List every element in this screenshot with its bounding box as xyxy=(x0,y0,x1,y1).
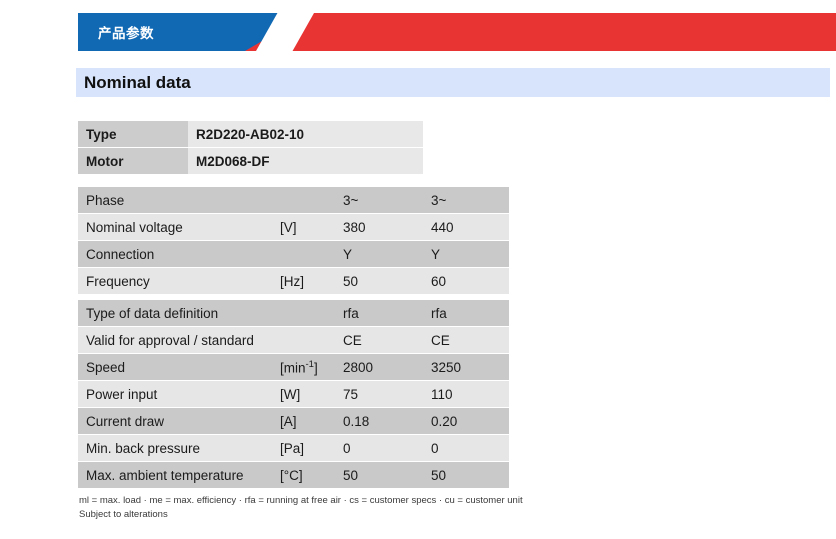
identity-value-motor: M2D068-DF xyxy=(188,148,423,174)
row-value-1: 0.18 xyxy=(335,408,423,434)
row-value-1: CE xyxy=(335,327,423,353)
row-label: Current draw xyxy=(78,408,272,434)
row-label: Valid for approval / standard xyxy=(78,327,272,353)
identity-table: Type R2D220-AB02-10 Motor M2D068-DF xyxy=(78,120,423,175)
footnote-abbreviations: ml = max. load · me = max. efficiency · … xyxy=(79,494,523,508)
row-value-2: 110 xyxy=(423,381,509,407)
section-heading-bar: Nominal data xyxy=(76,68,830,97)
table-row: Motor M2D068-DF xyxy=(78,148,423,174)
row-value-1: Y xyxy=(335,241,423,267)
row-value-1: rfa xyxy=(335,300,423,326)
table-row: Speed [min-1] 2800 3250 xyxy=(78,354,509,380)
row-value-1: 0 xyxy=(335,435,423,461)
row-unit-speed: [min-1] xyxy=(272,354,335,380)
table-row: Type of data definition rfa rfa xyxy=(78,300,509,326)
row-value-2: 0.20 xyxy=(423,408,509,434)
nominal-data-table-group-1: Phase 3~ 3~ Nominal voltage [V] 380 440 … xyxy=(78,186,509,295)
row-value-2: Y xyxy=(423,241,509,267)
row-value-1: 50 xyxy=(335,462,423,488)
row-value-2: rfa xyxy=(423,300,509,326)
row-unit: [°C] xyxy=(272,462,335,488)
row-value-1: 50 xyxy=(335,268,423,294)
row-label: Nominal voltage xyxy=(78,214,272,240)
row-value-1: 2800 xyxy=(335,354,423,380)
banner-title: 产品参数 xyxy=(98,13,154,51)
row-value-2: 440 xyxy=(423,214,509,240)
row-unit: [A] xyxy=(272,408,335,434)
row-unit: [V] xyxy=(272,214,335,240)
row-value-2: 0 xyxy=(423,435,509,461)
row-unit xyxy=(272,241,335,267)
row-value-2: 50 xyxy=(423,462,509,488)
row-label: Connection xyxy=(78,241,272,267)
row-label: Phase xyxy=(78,187,272,213)
table-row: Min. back pressure [Pa] 0 0 xyxy=(78,435,509,461)
row-value-2: 3250 xyxy=(423,354,509,380)
row-value-2: 60 xyxy=(423,268,509,294)
row-value-1: 3~ xyxy=(335,187,423,213)
page-title: Nominal data xyxy=(84,73,191,93)
table-row: Power input [W] 75 110 xyxy=(78,381,509,407)
identity-value-type: R2D220-AB02-10 xyxy=(188,121,423,147)
row-value-2: 3~ xyxy=(423,187,509,213)
table-row: Max. ambient temperature [°C] 50 50 xyxy=(78,462,509,488)
row-label: Type of data definition xyxy=(78,300,272,326)
table-row: Current draw [A] 0.18 0.20 xyxy=(78,408,509,434)
table-row: Nominal voltage [V] 380 440 xyxy=(78,214,509,240)
row-label: Speed xyxy=(78,354,272,380)
row-unit: [W] xyxy=(272,381,335,407)
row-value-1: 380 xyxy=(335,214,423,240)
table-row: Type R2D220-AB02-10 xyxy=(78,121,423,147)
table-row: Connection Y Y xyxy=(78,241,509,267)
page-banner: 产品参数 xyxy=(78,13,836,51)
row-unit: [Pa] xyxy=(272,435,335,461)
footnotes: ml = max. load · me = max. efficiency · … xyxy=(79,494,523,522)
row-unit: [Hz] xyxy=(272,268,335,294)
row-label: Max. ambient temperature xyxy=(78,462,272,488)
nominal-data-table-group-2: Type of data definition rfa rfa Valid fo… xyxy=(78,299,509,489)
row-unit xyxy=(272,300,335,326)
table-row: Valid for approval / standard CE CE xyxy=(78,327,509,353)
row-unit xyxy=(272,187,335,213)
row-value-2: CE xyxy=(423,327,509,353)
footnote-disclaimer: Subject to alterations xyxy=(79,508,523,522)
table-row: Frequency [Hz] 50 60 xyxy=(78,268,509,294)
identity-label-type: Type xyxy=(78,121,188,147)
row-label: Power input xyxy=(78,381,272,407)
row-unit xyxy=(272,327,335,353)
row-label: Frequency xyxy=(78,268,272,294)
row-value-1: 75 xyxy=(335,381,423,407)
table-row: Phase 3~ 3~ xyxy=(78,187,509,213)
identity-label-motor: Motor xyxy=(78,148,188,174)
row-label: Min. back pressure xyxy=(78,435,272,461)
